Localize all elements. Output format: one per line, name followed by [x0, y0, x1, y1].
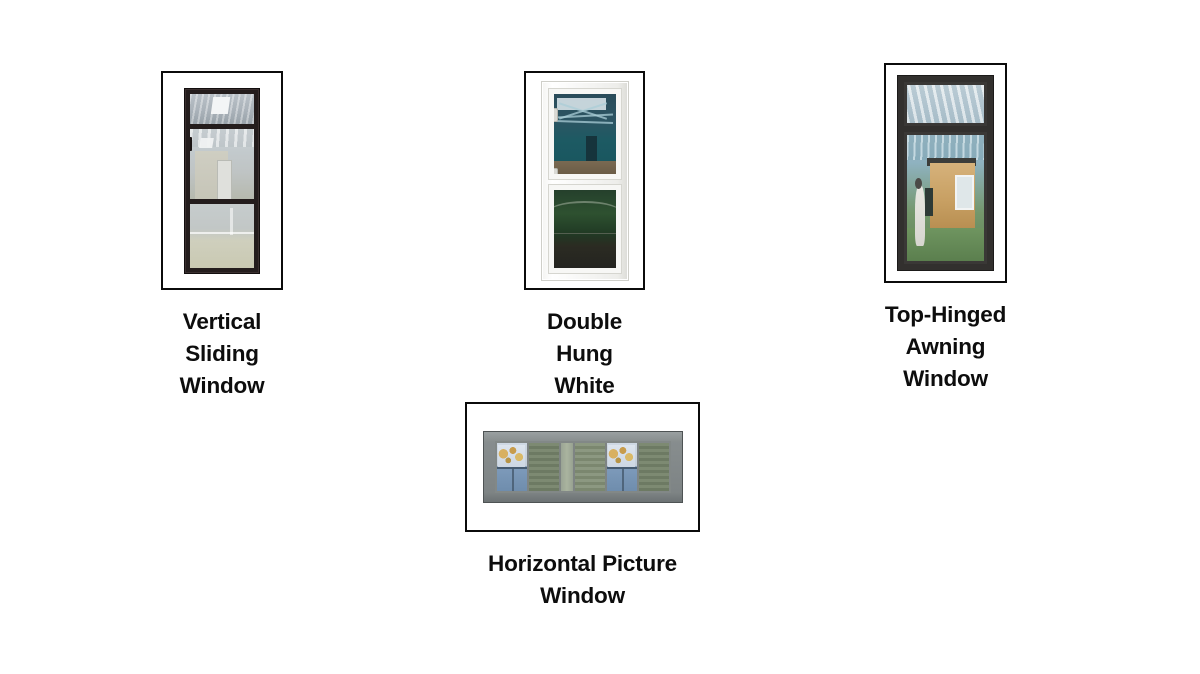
window-latch-icon: [552, 168, 558, 180]
window-pane-3: [561, 443, 575, 491]
product-photo-top-hinged-awning-window[interactable]: [884, 63, 1007, 283]
window-handle-icon: [552, 108, 558, 122]
product-card-vertical-sliding-window[interactable]: Vertical Sliding Window: [161, 71, 283, 402]
page-canvas: Vertical Sliding Window: [0, 0, 1200, 674]
window-pane-5: [607, 443, 639, 491]
window-pane-1: [497, 443, 529, 491]
window-illustration-horizontal-picture: [483, 431, 683, 503]
product-photo-vertical-sliding-window[interactable]: [161, 71, 283, 290]
product-card-top-hinged-awning-window[interactable]: Top-Hinged Awning Window: [884, 63, 1007, 395]
window-pane-2: [529, 443, 561, 491]
window-lower-hinge-icon: [904, 227, 907, 243]
window-pane-transom: [190, 94, 254, 124]
window-sash-lower: [549, 185, 621, 272]
window-pane-awning-sash: [904, 132, 987, 264]
product-photo-double-hung-white-window[interactable]: [524, 71, 645, 290]
window-illustration-awning: [897, 75, 994, 271]
product-caption-horizontal-picture-window: Horizontal Picture Window: [488, 548, 677, 612]
window-illustration-double-hung: [541, 81, 629, 281]
window-pane-frosted-transom: [904, 82, 987, 126]
window-pane-6: [639, 443, 669, 491]
window-sash-upper: [549, 89, 621, 180]
window-illustration-vertical-sliding: [184, 88, 260, 274]
window-pane-lower-fixed: [190, 204, 254, 267]
product-card-double-hung-white-window[interactable]: Double Hung White Window: [524, 71, 645, 434]
product-card-horizontal-picture-window[interactable]: Horizontal Picture Window: [465, 402, 700, 612]
window-glazing-group: [495, 441, 671, 493]
window-pane-middle-sash: [190, 129, 254, 200]
window-pane-4: [575, 443, 607, 491]
window-handle-icon: [190, 137, 192, 151]
window-hinge-icon: [904, 151, 907, 167]
product-caption-top-hinged-awning-window: Top-Hinged Awning Window: [884, 299, 1007, 395]
product-caption-vertical-sliding-window: Vertical Sliding Window: [161, 306, 283, 402]
product-photo-horizontal-picture-window[interactable]: [465, 402, 700, 532]
